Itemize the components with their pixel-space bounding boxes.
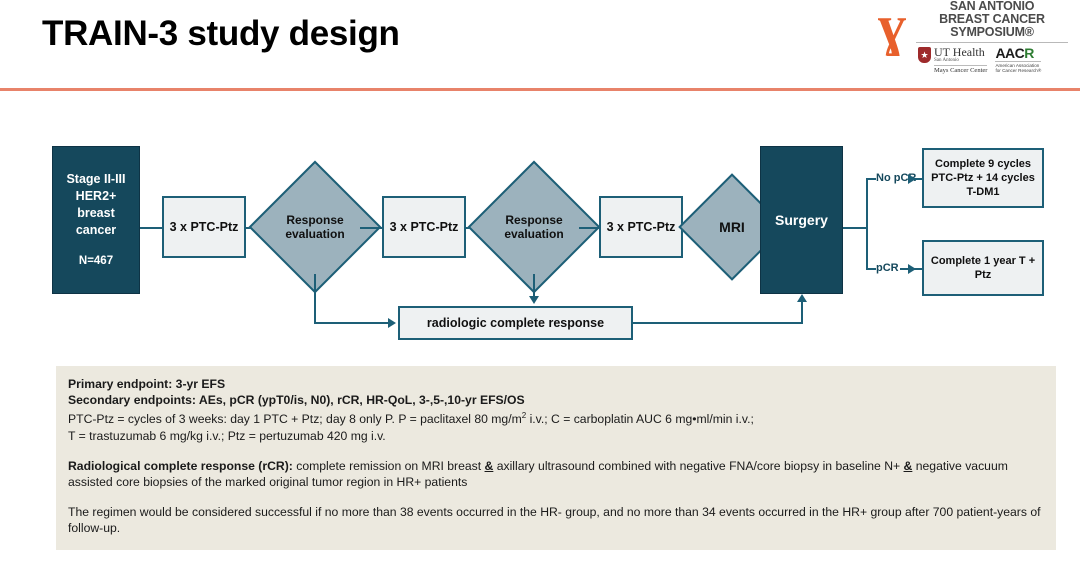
connector-rcr-surgery-vertical (801, 302, 803, 324)
population-sample-size: N=467 (79, 253, 113, 270)
arrow-pcr-icon (908, 264, 916, 274)
population-line-3: breast (77, 205, 115, 222)
node-population: Stage II-III HER2+ breast cancer N=467 (52, 146, 140, 294)
arrow-response1-to-rcr-icon (388, 318, 396, 328)
connector-branch-vertical (866, 178, 868, 270)
success-criteria: The regimen would be considered successf… (68, 504, 1044, 536)
mri-label: MRI (696, 220, 768, 234)
connector-response2-down (533, 274, 535, 298)
response-evaluation-2-label: Response evaluation (488, 213, 580, 241)
rcr-definition-a: complete remission on MRI breast (293, 459, 485, 473)
rcr-definition: Radiological complete response (rCR): co… (68, 458, 1044, 490)
regimen-line-1-a: PTC-Ptz = cycles of 3 weeks: day 1 PTC +… (68, 412, 522, 426)
connector-response1-down (314, 274, 316, 324)
connector-response1-to-rcr (314, 322, 390, 324)
node-chemo-cycle-1: 3 x PTC-Ptz (162, 196, 246, 258)
chemo-3-label: 3 x PTC-Ptz (607, 219, 676, 235)
surgery-label: Surgery (775, 212, 828, 228)
connector-branch-pcr (866, 268, 876, 270)
population-line-2: HER2+ (76, 188, 117, 205)
connector-population-to-chemo1 (140, 227, 162, 229)
secondary-endpoint-line: Secondary endpoints: AEs, pCR (ypT0/is, … (68, 392, 1044, 408)
response-evaluation-1-label: Response evaluation (269, 213, 361, 241)
arrow-rcr-to-surgery-icon (797, 294, 807, 302)
rcr-definition-b: axillary ultrasound combined with negati… (493, 459, 903, 473)
connector-branch-no-pcr (866, 178, 876, 180)
outcome-pcr-label: Complete 1 year T + Ptz (929, 254, 1037, 282)
regimen-line-1-b: i.v.; C = carboplatin AUC 6 mg•ml/min i.… (526, 412, 754, 426)
rcr-definition-label: Radiological complete response (rCR): (68, 459, 293, 473)
node-chemo-cycle-2: 3 x PTC-Ptz (382, 196, 466, 258)
panel-spacer-2 (68, 490, 1044, 504)
node-chemo-cycle-3: 3 x PTC-Ptz (599, 196, 683, 258)
chemo-1-label: 3 x PTC-Ptz (170, 219, 239, 235)
node-outcome-no-pcr: Complete 9 cycles PTC-Ptz + 14 cycles T-… (922, 148, 1044, 208)
node-response-evaluation-2: Response evaluation (487, 180, 581, 274)
panel-spacer-1 (68, 444, 1044, 458)
node-mri: MRI (694, 189, 770, 265)
rcr-label: radiologic complete response (427, 316, 604, 330)
regimen-line-1: PTC-Ptz = cycles of 3 weeks: day 1 PTC +… (68, 408, 1044, 427)
arrow-no-pcr-icon (908, 174, 916, 184)
population-line-4: cancer (76, 222, 116, 239)
node-radiologic-complete-response: radiologic complete response (398, 306, 633, 340)
connector-rcr-to-surgery (633, 322, 803, 324)
chemo-2-label: 3 x PTC-Ptz (390, 219, 459, 235)
connector-response2-to-chemo3 (579, 227, 599, 229)
node-surgery: Surgery (760, 146, 843, 294)
connector-surgery-to-branch (843, 227, 867, 229)
population-line-1: Stage II-III (66, 171, 125, 188)
regimen-line-2: T = trastuzumab 6 mg/kg i.v.; Ptz = pert… (68, 428, 1044, 444)
node-response-evaluation-1: Response evaluation (268, 180, 362, 274)
outcome-no-pcr-label: Complete 9 cycles PTC-Ptz + 14 cycles T-… (929, 157, 1037, 199)
primary-endpoint-line: Primary endpoint: 3-yr EFS (68, 376, 1044, 392)
node-outcome-pcr: Complete 1 year T + Ptz (922, 240, 1044, 296)
connector-response1-to-chemo2 (360, 227, 382, 229)
arrow-response2-to-rcr-icon (529, 296, 539, 304)
endpoints-panel: Primary endpoint: 3-yr EFS Secondary end… (56, 366, 1056, 550)
branch-label-pcr: pCR (876, 262, 899, 274)
